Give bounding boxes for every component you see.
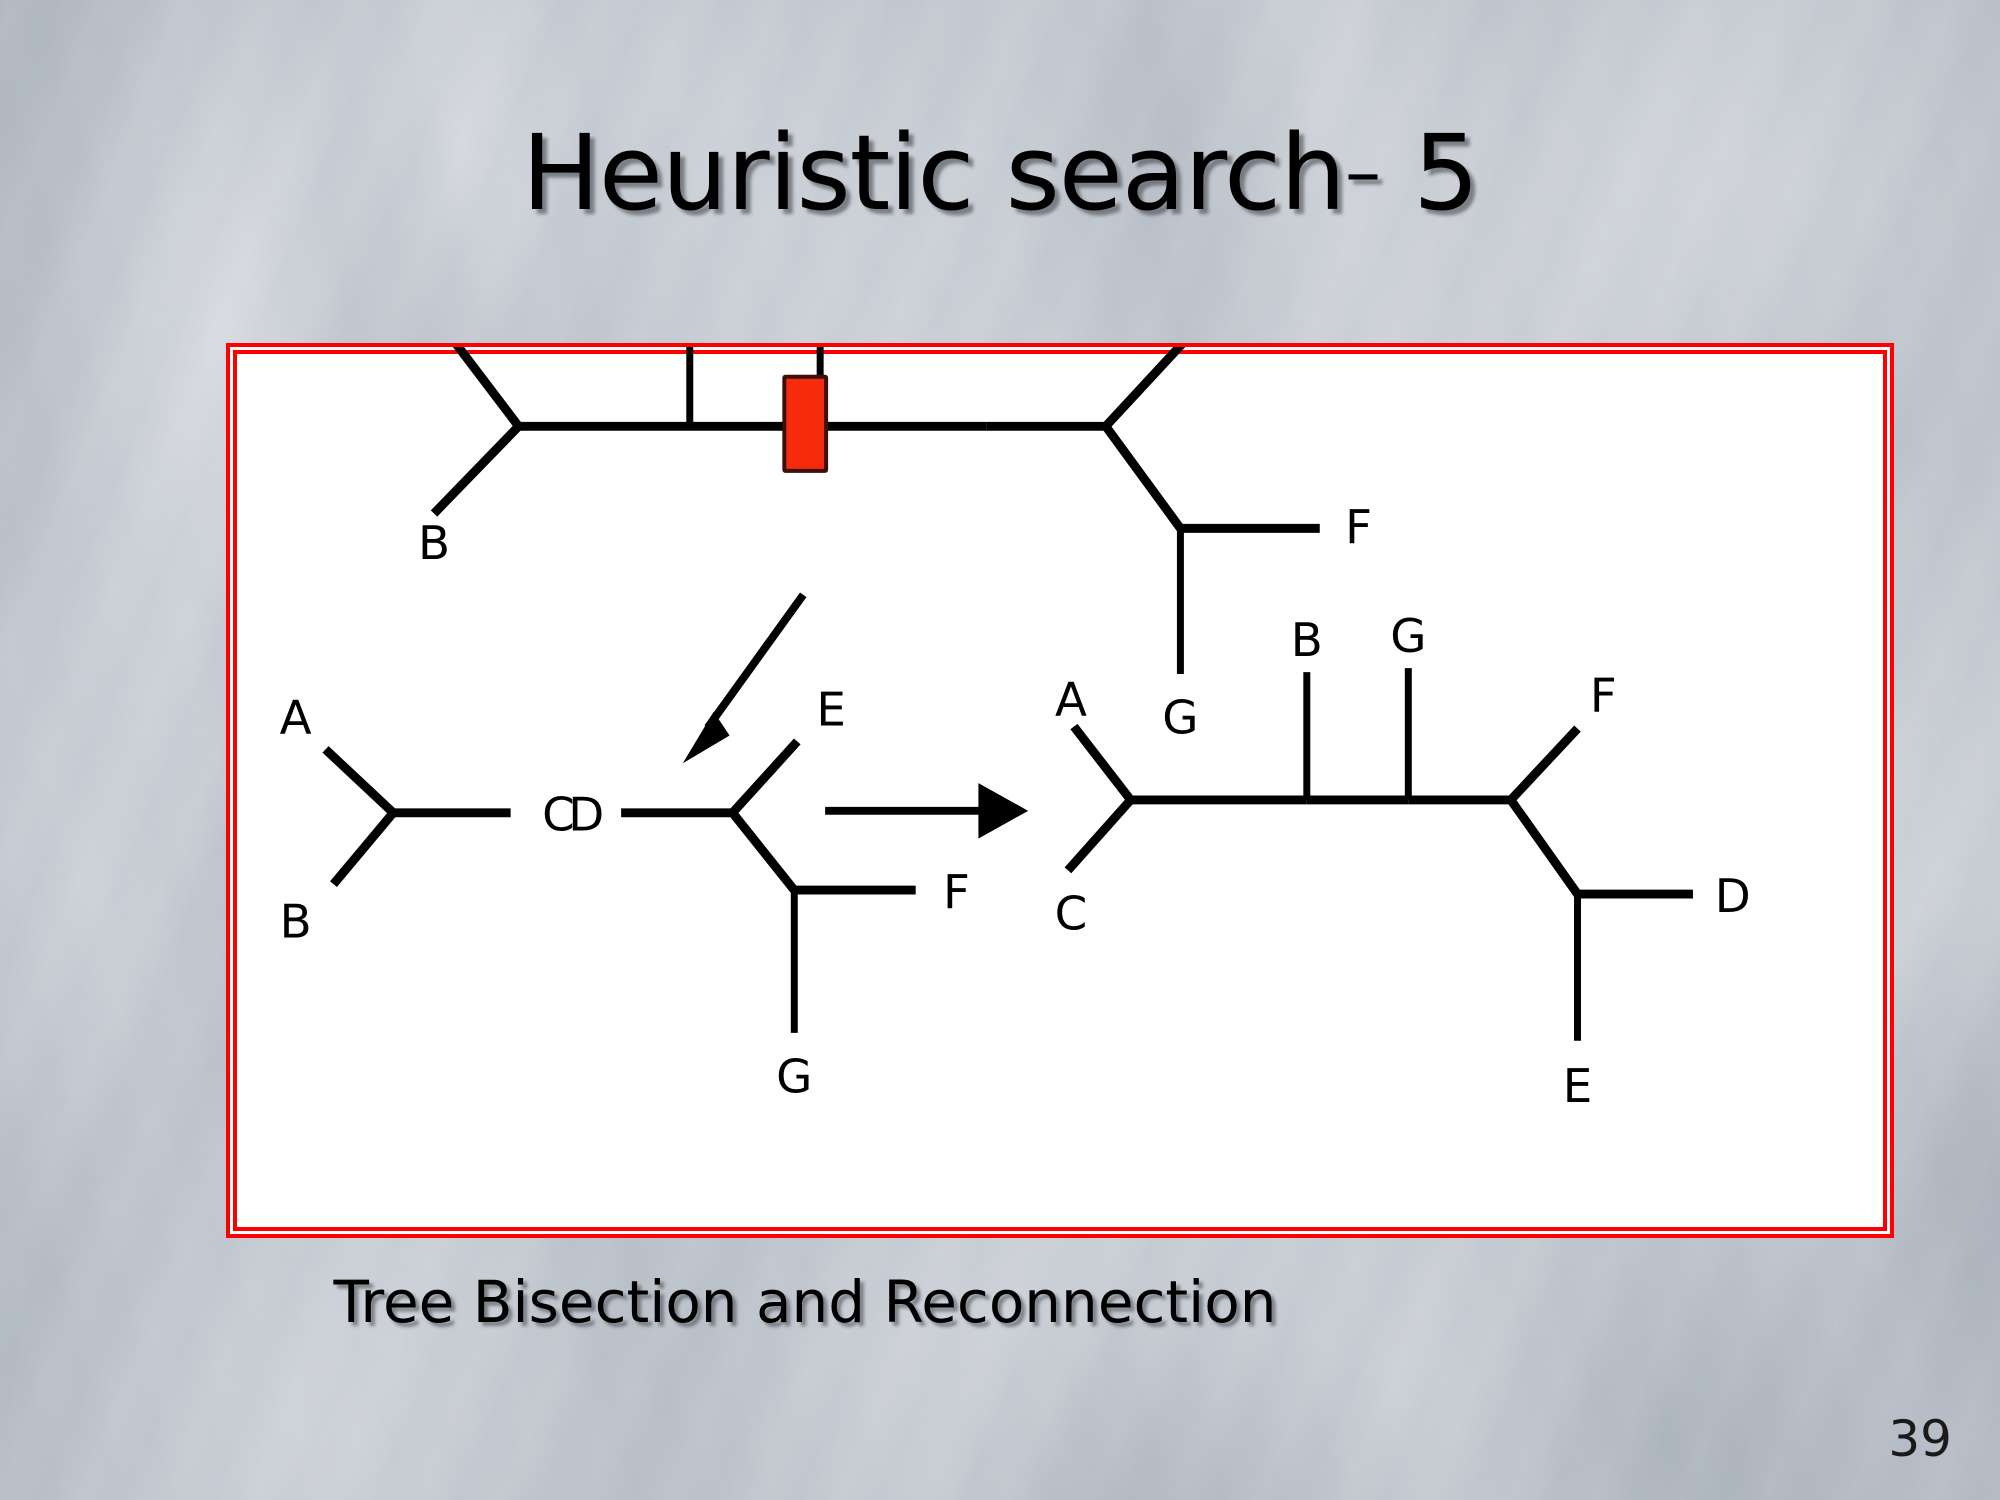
res-leaf-label-F: F [1590, 670, 1617, 724]
original-tree [434, 347, 1320, 674]
leaf-label-B: B [418, 517, 450, 571]
edge-internal-FG [1106, 426, 1181, 528]
tbr-diagram-svg: A B C D E F G A B C [230, 347, 1890, 1234]
res-edge-to-A [1074, 727, 1131, 800]
title-main-text: Heuristic search [522, 112, 1345, 234]
res-leaf-label-C: C [1055, 888, 1088, 942]
diagram-caption: Tree Bisection and Reconnection [0, 1268, 1610, 1336]
diagram-panel: A B C D E F G A B C [226, 343, 1894, 1238]
leaf-label-F: F [1345, 501, 1372, 555]
sub1-leaf-label-B: B [280, 896, 312, 950]
res-leaf-label-A: A [1055, 674, 1087, 728]
sub1-edge-to-B [334, 813, 394, 884]
reconnect-arrow-head [978, 783, 1028, 838]
sub2-leaf-label-D: D [568, 789, 604, 843]
subtree-defg [621, 741, 916, 1032]
sub2-edge-internal [733, 813, 795, 890]
title-dash: – [1345, 130, 1381, 214]
edge-to-B [434, 426, 519, 513]
slide: Heuristic search– 5 [0, 0, 2000, 1500]
sub1-leaf-label-A: A [280, 692, 312, 746]
res-edge-to-F [1511, 729, 1578, 800]
edge-to-A [451, 347, 519, 426]
edge-to-E [1106, 347, 1189, 426]
bisect-arrow-shaft [708, 595, 804, 728]
sub2-leaf-label-G: G [776, 1050, 812, 1104]
res-leaf-label-D: D [1715, 870, 1751, 924]
subtree-abc [326, 749, 511, 884]
sub2-edge-to-E [733, 741, 798, 812]
bisect-arrow-head [683, 712, 730, 764]
res-edge-to-C [1068, 800, 1131, 870]
leaf-label-G: G [1162, 692, 1198, 746]
sub1-edge-to-A [326, 749, 394, 812]
res-leaf-label-E: E [1563, 1060, 1593, 1114]
res-edge-internal-DE [1511, 800, 1578, 894]
page-number: 39 [1888, 1410, 1952, 1468]
res-leaf-label-G: G [1390, 610, 1426, 664]
page-title: Heuristic search– 5 [0, 118, 2000, 228]
title-number: 5 [1413, 112, 1478, 234]
res-leaf-label-B: B [1291, 614, 1323, 668]
cut-marker-rect [784, 377, 826, 471]
reconnect-arrow [825, 783, 1028, 838]
sub2-leaf-label-E: E [816, 684, 846, 738]
sub2-leaf-label-F: F [943, 866, 970, 920]
bisect-arrow [683, 595, 803, 763]
